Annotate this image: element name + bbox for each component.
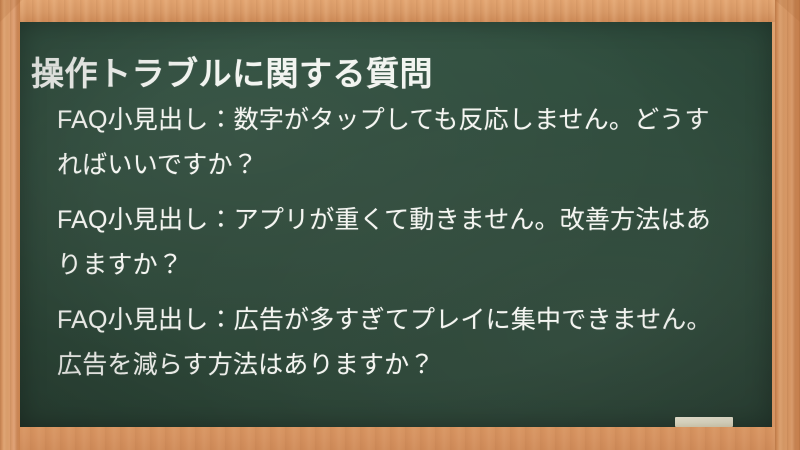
faq-list: FAQ小見出し：数字がタップしても反応しません。どうすればいいですか？ FAQ小… — [57, 98, 727, 388]
blackboard: 操作トラブルに関する質問 FAQ小見出し：数字がタップしても反応しません。どうす… — [20, 22, 772, 427]
wooden-frame-right — [775, 0, 800, 450]
frame-miter-top-right — [775, 0, 800, 22]
page-title: 操作トラブルに関する質問 — [31, 52, 751, 96]
list-item: FAQ小見出し：広告が多すぎてプレイに集中できません。広告を減らす方法はあります… — [57, 298, 727, 388]
list-item: FAQ小見出し：数字がタップしても反応しません。どうすればいいですか？ — [57, 98, 727, 188]
wooden-frame-bottom — [0, 427, 800, 450]
list-item: FAQ小見出し：アプリが重くて動きません。改善方法はありますか？ — [57, 198, 727, 288]
blackboard-content: 操作トラブルに関する質問 FAQ小見出し：数字がタップしても反応しません。どうす… — [20, 22, 772, 427]
chalk-stick-icon — [675, 417, 733, 427]
slide-canvas: 操作トラブルに関する質問 FAQ小見出し：数字がタップしても反応しません。どうす… — [0, 0, 800, 450]
wooden-frame-left — [0, 0, 20, 450]
wooden-frame-top — [0, 0, 800, 22]
frame-miter-top-left — [0, 0, 22, 22]
